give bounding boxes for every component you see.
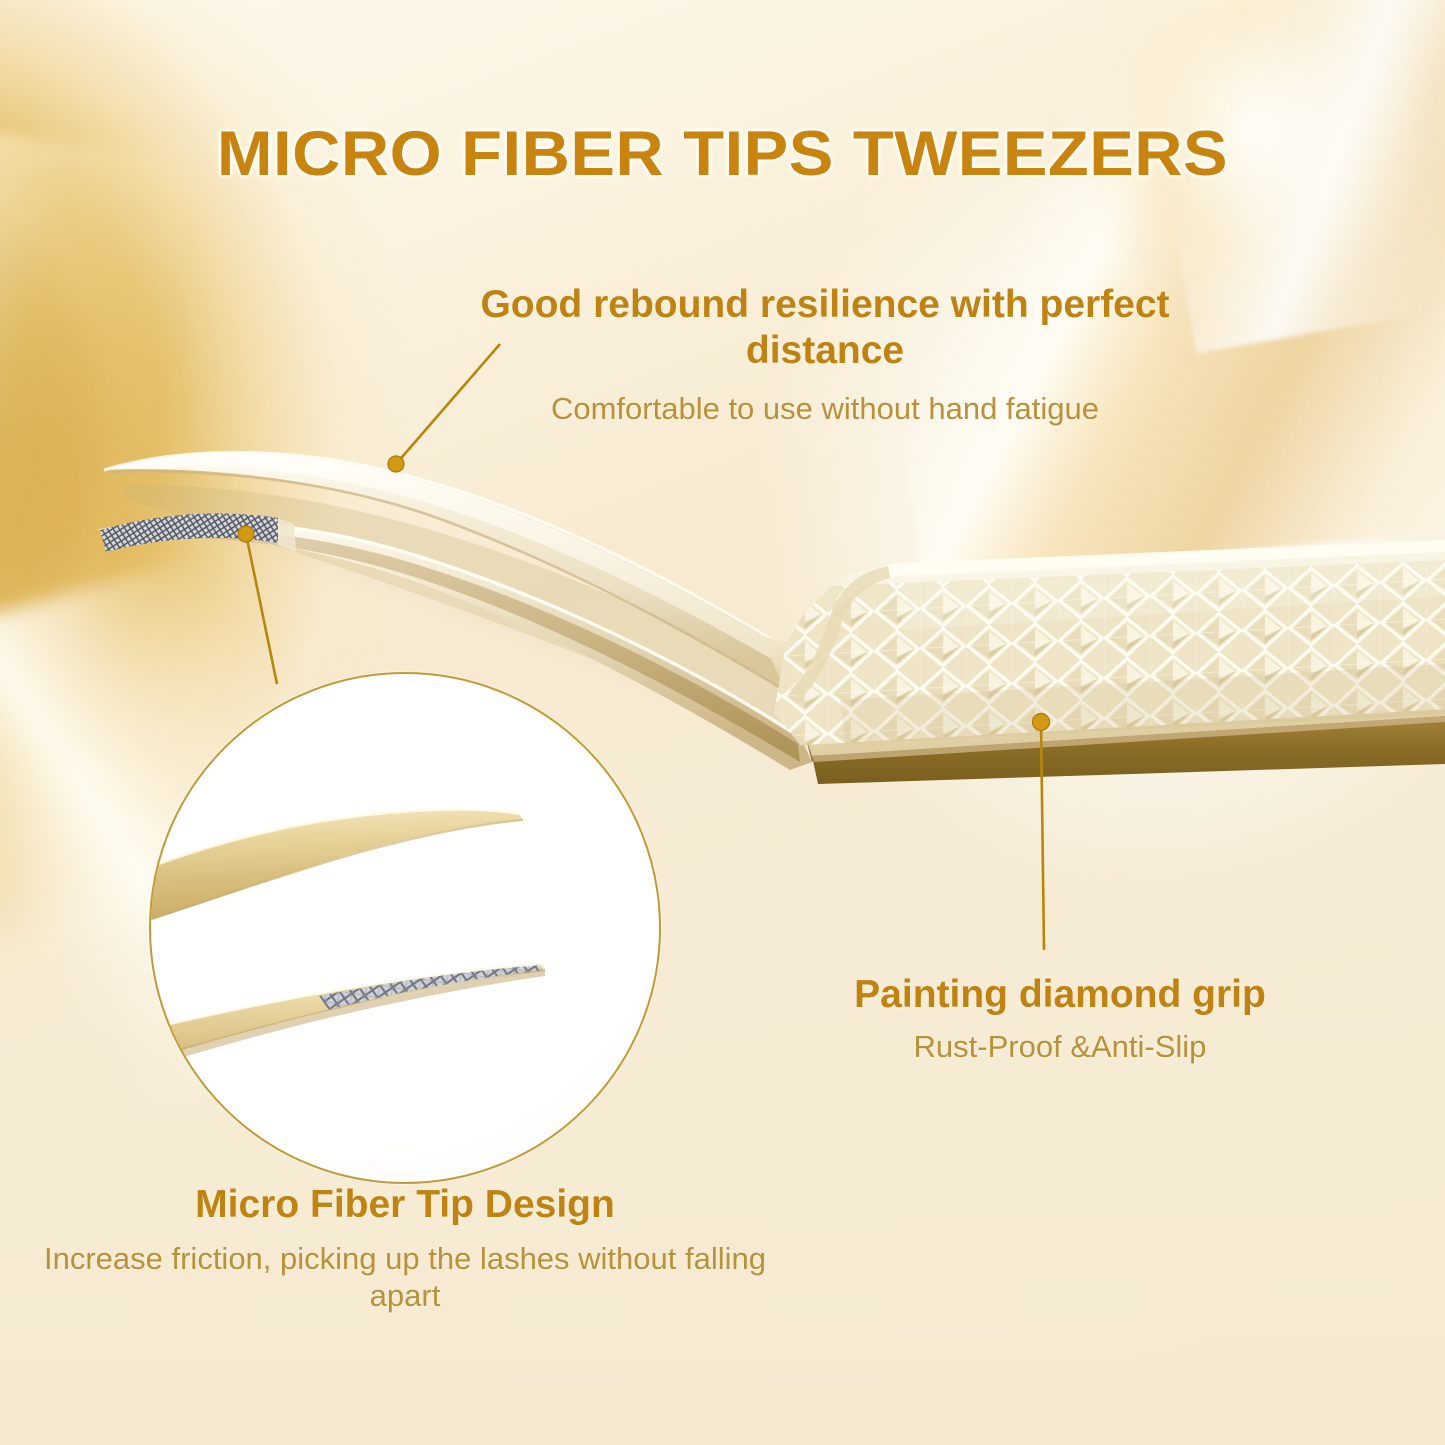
callout-tip: Micro Fiber Tip Design Increase friction… bbox=[35, 1182, 775, 1314]
callout-grip-heading: Painting diamond grip bbox=[740, 972, 1380, 1018]
callout-rebound-subtext: Comfortable to use without hand fatigue bbox=[430, 390, 1220, 427]
magnified-upper-blade bbox=[151, 809, 523, 926]
diamond-grip-handle bbox=[740, 464, 1445, 784]
callout-tip-subtext: Increase friction, picking up the lashes… bbox=[35, 1240, 775, 1314]
callout-rebound-heading: Good rebound resilience with perfect dis… bbox=[430, 282, 1220, 373]
callout-rebound: Good rebound resilience with perfect dis… bbox=[430, 282, 1220, 427]
magnified-tip-detail bbox=[149, 672, 661, 1184]
page-title: MICRO FIBER TIPS TWEEZERS bbox=[0, 118, 1445, 190]
callout-grip-subtext: Rust-Proof &Anti-Slip bbox=[740, 1028, 1380, 1065]
callout-tip-heading: Micro Fiber Tip Design bbox=[35, 1182, 775, 1228]
micro-fiber-texture-patch bbox=[100, 513, 278, 552]
callout-grip: Painting diamond grip Rust-Proof &Anti-S… bbox=[740, 972, 1380, 1065]
magnified-lower-blade bbox=[151, 964, 545, 1074]
magnifier-content bbox=[151, 674, 659, 1182]
infographic-canvas: MICRO FIBER TIPS TWEEZERS Good rebound r… bbox=[0, 0, 1445, 1445]
